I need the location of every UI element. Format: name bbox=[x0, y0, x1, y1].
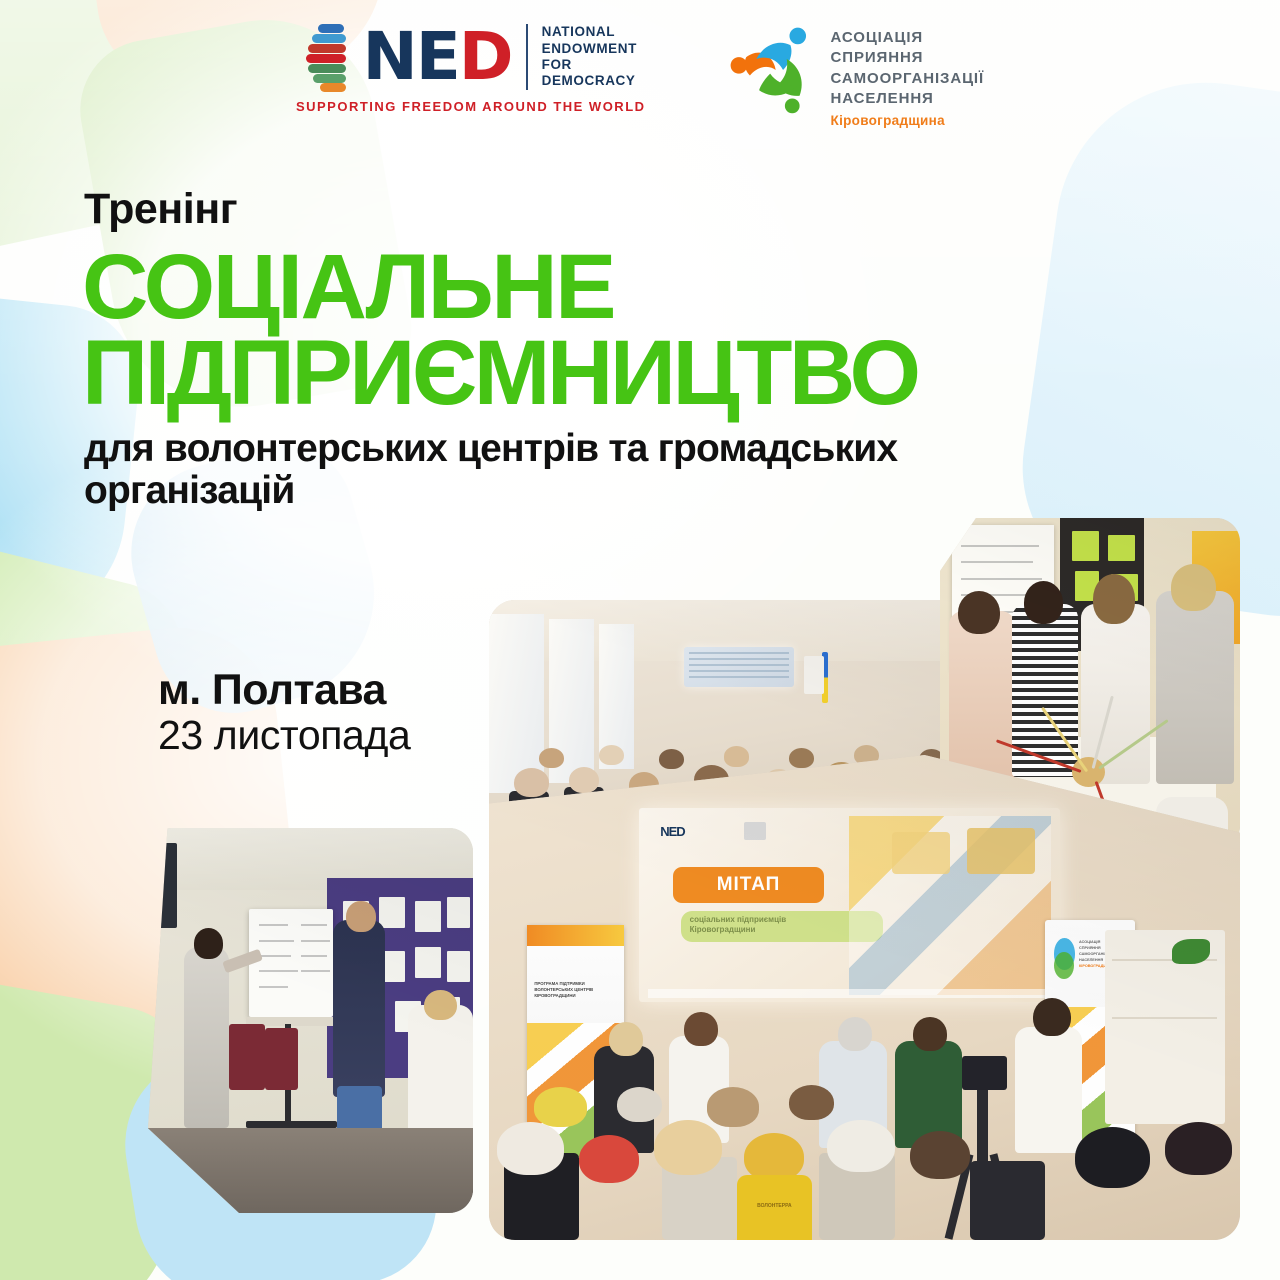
asn-region-label: Кіровоградщина bbox=[831, 113, 985, 128]
meetup-scene: NED МІТАП соціальних підприємців Кіровог… bbox=[489, 755, 1240, 1240]
meetup-rollup-left-text: ПРОГРАМА ПІДТРИМКИ ВОЛОНТЕРСЬКИХ ЦЕНТРІВ… bbox=[534, 981, 616, 1000]
flipchart-scene bbox=[148, 828, 473, 1213]
page-subtitle-line-1: для волонтерських центрів та громадських bbox=[84, 428, 1192, 470]
asn-people-triangle-icon bbox=[726, 22, 818, 118]
ned-subtitle-line-2: ENDOWMENT bbox=[542, 41, 637, 57]
event-date: 23 листопада bbox=[158, 713, 410, 757]
meetup-screen-subtitle-text: соціальних підприємців Кіровоградщини bbox=[690, 915, 875, 935]
meetup-subtitle-line-1: соціальних підприємців bbox=[690, 915, 875, 925]
asn-line-2: СПРИЯННЯ bbox=[831, 48, 985, 68]
ned-subtitle-line-3: FOR bbox=[542, 57, 637, 73]
asn-line-1: АСОЦІАЦІЯ bbox=[831, 28, 985, 48]
page-title: СОЦІАЛЬНЕ ПІДПРИЄМНИЦТВО bbox=[82, 245, 1192, 416]
ned-subtitle-line-4: DEMOCRACY bbox=[542, 73, 637, 89]
ned-globe-icon bbox=[304, 22, 348, 92]
ned-wordmark: NED bbox=[362, 27, 511, 86]
rollup-left-line-3: КІРОВОГРАДЩИНИ bbox=[534, 993, 616, 999]
asn-line-4: НАСЕЛЕННЯ bbox=[831, 89, 985, 109]
poster-root: NED NATIONAL ENDOWMENT FOR DEMOCRACY SUP… bbox=[0, 0, 1280, 1280]
asn-logo: АСОЦІАЦІЯ СПРИЯННЯ САМООРГАНІЗАЦІЇ НАСЕЛ… bbox=[726, 22, 985, 128]
event-city: м. Полтава bbox=[158, 668, 410, 713]
asn-line-3: САМООРГАНІЗАЦІЇ bbox=[831, 69, 985, 89]
event-details: м. Полтава 23 листопада bbox=[158, 668, 410, 757]
ned-subtitle-line-1: NATIONAL bbox=[542, 24, 637, 40]
ned-logo-row: NED NATIONAL ENDOWMENT FOR DEMOCRACY bbox=[304, 22, 637, 92]
logo-header: NED NATIONAL ENDOWMENT FOR DEMOCRACY SUP… bbox=[0, 22, 1280, 152]
ned-logo: NED NATIONAL ENDOWMENT FOR DEMOCRACY SUP… bbox=[296, 22, 646, 114]
meetup-projection-screen: NED МІТАП соціальних підприємців Кіровог… bbox=[639, 808, 1060, 1002]
event-type-kicker: Тренінг bbox=[84, 188, 1192, 231]
page-subtitle-line-2: організацій bbox=[84, 470, 1192, 512]
meetup-screen-title: МІТАП bbox=[673, 867, 824, 904]
photo-meetup-presentation: NED МІТАП соціальних підприємців Кіровог… bbox=[489, 755, 1240, 1240]
ned-wordmark-d: D bbox=[459, 27, 512, 86]
headline-block: Тренінг СОЦІАЛЬНЕ ПІДПРИЄМНИЦТВО для вол… bbox=[82, 188, 1192, 512]
page-subtitle: для волонтерських центрів та громадських… bbox=[84, 428, 1192, 512]
ned-divider bbox=[526, 24, 528, 90]
ned-tagline: SUPPORTING FREEDOM AROUND THE WORLD bbox=[296, 99, 646, 114]
photo-flipchart-training bbox=[148, 828, 473, 1213]
meetup-subtitle-line-2: Кіровоградщини bbox=[690, 925, 875, 935]
volunteer-tshirt-text: ВОЛОНТЕРРА bbox=[744, 1203, 804, 1209]
ned-subtitle-block: NATIONAL ENDOWMENT FOR DEMOCRACY bbox=[542, 24, 637, 90]
ned-wordmark-ne: NE bbox=[362, 27, 458, 86]
meetup-screen-ned-logo: NED bbox=[660, 824, 684, 839]
asn-text-block: АСОЦІАЦІЯ СПРИЯННЯ САМООРГАНІЗАЦІЇ НАСЕЛ… bbox=[831, 22, 985, 128]
page-title-line-2: ПІДПРИЄМНИЦТВО bbox=[82, 331, 1192, 417]
